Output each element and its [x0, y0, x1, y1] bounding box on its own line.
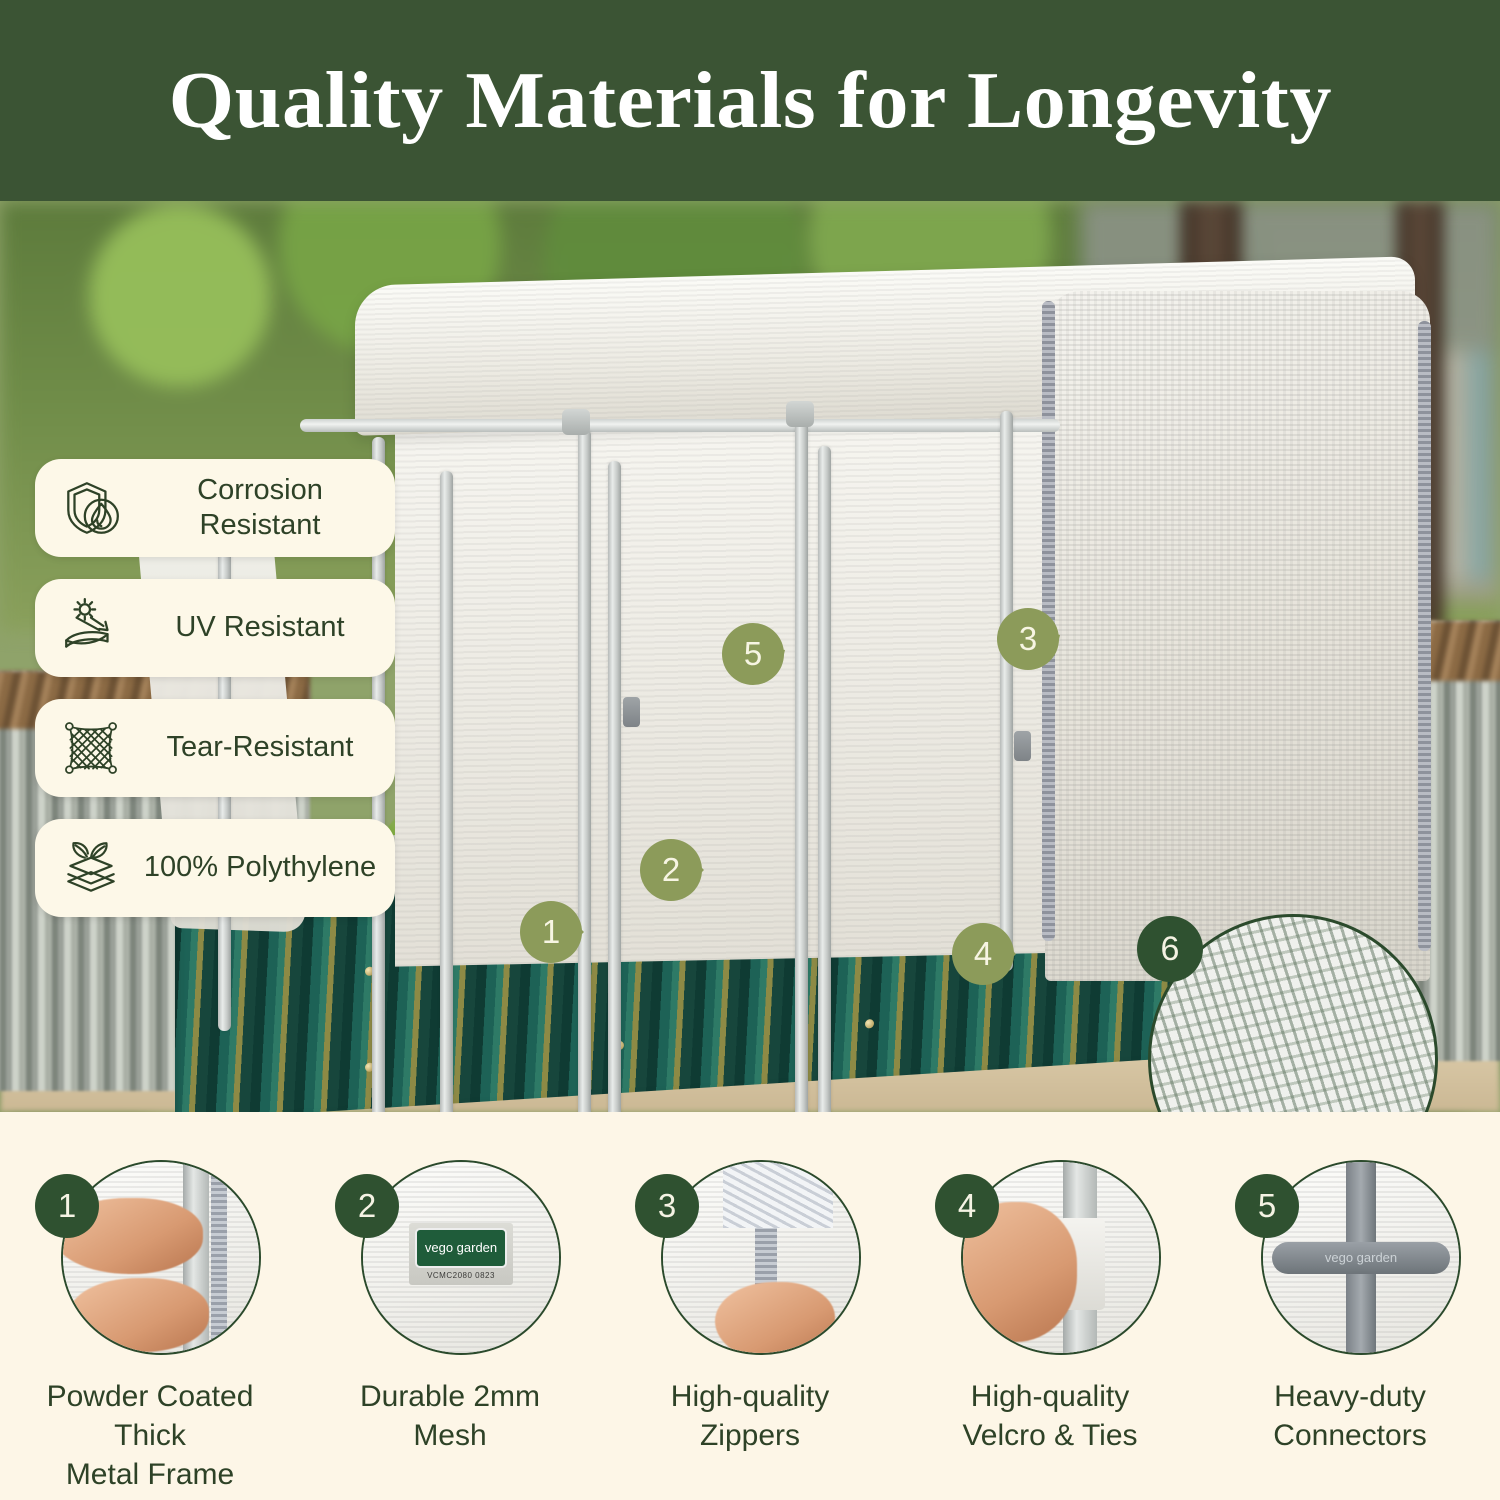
badge-number: 2	[358, 1187, 376, 1225]
detail-badge-2: 2	[335, 1174, 399, 1238]
hero-pin-1[interactable]: 1	[520, 901, 582, 963]
end-panel-zipper	[1418, 321, 1431, 951]
feature-badge-label: 100% Polythylene	[143, 850, 377, 885]
detail-caption-5: Heavy-duty Connectors	[1273, 1377, 1426, 1455]
badge-number: 4	[958, 1187, 976, 1225]
shield-droplet-icon	[55, 472, 127, 544]
hero-pin-4[interactable]: 4	[952, 923, 1014, 985]
badge-number: 5	[1258, 1187, 1276, 1225]
detail-badge-3: 3	[635, 1174, 699, 1238]
frame-pole	[608, 461, 621, 1112]
greenhouse-cover-end-panel	[1045, 291, 1430, 981]
hero-pin-3[interactable]: 3	[997, 608, 1059, 670]
detail-caption-3: High-quality Zippers	[671, 1377, 829, 1455]
pin-number: 6	[1161, 930, 1180, 969]
detail-item-metal-frame[interactable]: 1 Powder Coated Thick Metal Frame	[7, 1160, 293, 1494]
detail-item-zippers[interactable]: 3 High-quality Zippers	[607, 1160, 893, 1455]
brand-label: vego garden	[415, 1228, 507, 1268]
connector-brand-label: vego garden	[1325, 1250, 1397, 1265]
detail-item-connectors[interactable]: vego garden 5 Heavy-duty Connectors	[1207, 1160, 1493, 1455]
hero-pin-2[interactable]: 2	[640, 839, 702, 901]
detail-item-velcro-ties[interactable]: 4 High-quality Velcro & Ties	[907, 1160, 1193, 1455]
hero-pin-5[interactable]: 5	[722, 623, 784, 685]
feature-badge-list: Corrosion Resistant UV Resistant	[35, 459, 395, 917]
mesh-net-icon	[55, 712, 127, 784]
pin-number: 5	[744, 635, 762, 673]
feature-badge-uv-resistant[interactable]: UV Resistant	[35, 579, 395, 677]
thumbnail-wrap: 1	[35, 1160, 265, 1355]
badge-number: 3	[658, 1187, 676, 1225]
detail-badge-4: 4	[935, 1174, 999, 1238]
thumbnail-row: 1 Powder Coated Thick Metal Frame vego g…	[0, 1160, 1500, 1494]
sun-uv-layer-icon	[55, 592, 127, 664]
feature-badge-polythylene[interactable]: 100% Polythylene	[35, 819, 395, 917]
cover-clip	[623, 697, 640, 727]
feature-badge-label: Corrosion Resistant	[143, 473, 377, 544]
thumbnail-wrap: 4	[935, 1160, 1165, 1355]
page-title: Quality Materials for Longevity	[168, 54, 1331, 147]
pin-number: 2	[662, 851, 680, 889]
thumbnail-wrap: vego garden VCMC2080 0823 2	[335, 1160, 565, 1355]
detail-item-mesh[interactable]: vego garden VCMC2080 0823 2 Durable 2mm …	[307, 1160, 593, 1455]
product-tag: vego garden VCMC2080 0823	[409, 1223, 513, 1285]
thumbnail-wrap: vego garden 5	[1235, 1160, 1465, 1355]
detail-thumbnail-strip: 1 Powder Coated Thick Metal Frame vego g…	[0, 1112, 1500, 1500]
detail-caption-2: Durable 2mm Mesh	[360, 1377, 540, 1455]
header-banner: Quality Materials for Longevity	[0, 0, 1500, 201]
product-code: VCMC2080 0823	[427, 1271, 495, 1280]
thumbnail-wrap: 3	[635, 1160, 865, 1355]
feature-badge-label: UV Resistant	[143, 610, 377, 645]
badge-number: 1	[58, 1187, 76, 1225]
hero-pin-6[interactable]: 6	[1137, 916, 1203, 982]
cover-clip	[1014, 731, 1031, 761]
feature-badge-corrosion-resistant[interactable]: Corrosion Resistant	[35, 459, 395, 557]
detail-badge-1: 1	[35, 1174, 99, 1238]
hero-product-photo: 1 2 3 4 5 6	[0, 201, 1500, 1112]
frame-pole	[795, 421, 808, 1112]
infographic-page: Quality Materials for Longevity	[0, 0, 1500, 1500]
frame-connector	[562, 409, 590, 435]
feature-badge-tear-resistant[interactable]: Tear-Resistant	[35, 699, 395, 797]
frame-connector	[786, 401, 814, 427]
detail-caption-1: Powder Coated Thick Metal Frame	[7, 1377, 293, 1494]
leaf-layers-icon	[55, 832, 127, 904]
frame-pole	[1000, 411, 1013, 971]
feature-badge-label: Tear-Resistant	[143, 730, 377, 765]
frame-pole	[440, 471, 453, 1112]
detail-badge-5: 5	[1235, 1174, 1299, 1238]
pin-number: 3	[1019, 620, 1037, 658]
detail-caption-4: High-quality Velcro & Ties	[962, 1377, 1137, 1455]
pin-number: 1	[542, 913, 560, 951]
frame-pole	[578, 429, 591, 1112]
frame-pole	[818, 446, 831, 1112]
frame-top-rail	[300, 419, 1060, 432]
connector-horizontal: vego garden	[1272, 1242, 1450, 1274]
pin-number: 4	[974, 935, 992, 973]
